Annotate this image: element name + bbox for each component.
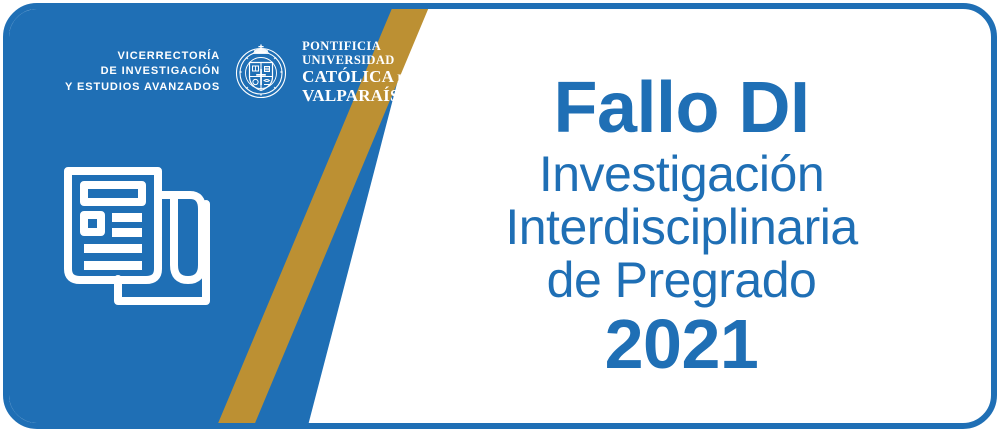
title-year: 2021 bbox=[605, 309, 759, 379]
pucv-seal-icon bbox=[230, 41, 292, 103]
title-subtitle-line-2: Interdisciplinaria bbox=[505, 201, 857, 254]
banner: VICERRECTORÍA DE INVESTIGACIÓN Y ESTUDIO… bbox=[0, 0, 1000, 432]
university-line-3: CATÓLICA DE bbox=[302, 67, 414, 86]
university-line-3-small: DE bbox=[397, 71, 414, 85]
title-subtitle-line-3: de Pregrado bbox=[505, 254, 857, 307]
newspaper-icon bbox=[54, 149, 216, 311]
title-main: Fallo DI bbox=[553, 72, 809, 144]
university-line-4: VALPARAÍSO bbox=[302, 86, 414, 105]
university-line-1: PONTIFICIA bbox=[302, 39, 414, 53]
institutional-lockup: VICERRECTORÍA DE INVESTIGACIÓN Y ESTUDIO… bbox=[65, 39, 414, 105]
card-frame: VICERRECTORÍA DE INVESTIGACIÓN Y ESTUDIO… bbox=[3, 3, 997, 429]
title-subtitle: Investigación Interdisciplinaria de Preg… bbox=[505, 148, 857, 307]
title-block: Fallo DI Investigación Interdisciplinari… bbox=[439, 9, 924, 429]
vicerrectoria-line-1: VICERRECTORÍA bbox=[65, 49, 220, 65]
title-subtitle-line-1: Investigación bbox=[505, 148, 857, 201]
vicerrectoria-text: VICERRECTORÍA DE INVESTIGACIÓN Y ESTUDIO… bbox=[65, 49, 220, 96]
university-line-3-main: CATÓLICA bbox=[302, 67, 394, 86]
vicerrectoria-line-3: Y ESTUDIOS AVANZADOS bbox=[65, 80, 220, 96]
vicerrectoria-line-2: DE INVESTIGACIÓN bbox=[65, 64, 220, 80]
university-line-2: UNIVERSIDAD bbox=[302, 53, 414, 67]
university-name: PONTIFICIA UNIVERSIDAD CATÓLICA DE VALPA… bbox=[302, 39, 414, 105]
